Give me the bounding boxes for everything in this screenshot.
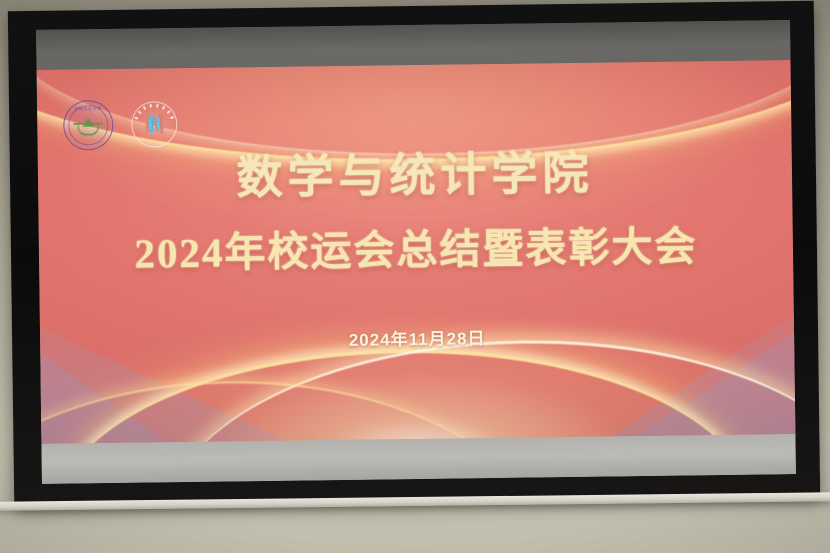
slide-title: 数学与统计学院: [236, 137, 594, 208]
presentation-slide: 华南农业大学: [37, 60, 796, 444]
slide-text-block: 数学与统计学院 2024年校运会总结暨表彰大会 2024年11月28日: [37, 60, 796, 444]
room-photo: 华南农业大学: [0, 0, 830, 553]
slide-subtitle: 2024年校运会总结暨表彰大会: [134, 212, 698, 279]
projection-screen: 华南农业大学: [8, 1, 820, 507]
slide-date: 2024年11月28日: [349, 324, 486, 351]
screen-canvas: 华南农业大学: [36, 20, 796, 484]
screen-frame: 华南农业大学: [8, 1, 820, 507]
